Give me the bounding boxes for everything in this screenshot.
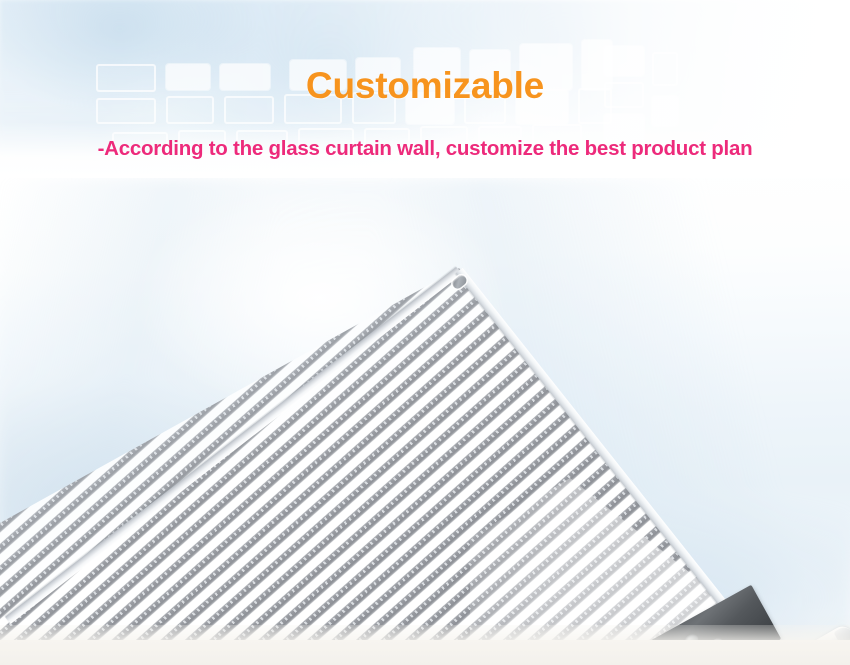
customizable-product-banner: Customizable -According to the glass cur…	[0, 0, 850, 665]
page-subtitle: -According to the glass curtain wall, cu…	[0, 139, 850, 160]
bottom-strip	[0, 640, 850, 665]
page-title: Customizable	[0, 67, 850, 104]
product-photo	[0, 178, 850, 665]
